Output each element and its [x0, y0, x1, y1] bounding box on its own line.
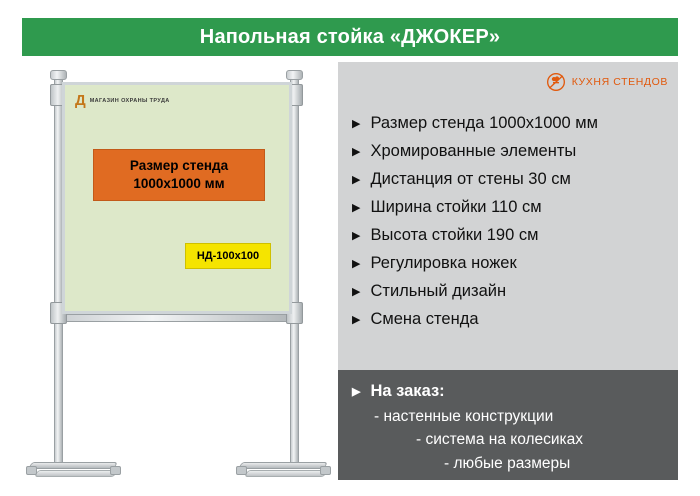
custom-order-title-row: ▶ На заказ: — [352, 382, 664, 401]
feature-label: Размер стенда 1000х1000 мм — [370, 114, 598, 133]
bullet-icon: ▶ — [352, 231, 360, 242]
stand-foot-left-rear — [34, 470, 118, 477]
bullet-icon: ▶ — [352, 119, 360, 130]
feature-label: Регулировка ножек — [370, 254, 516, 273]
stand-cap-right — [286, 70, 303, 80]
feature-item: ▶ Регулировка ножек — [352, 254, 672, 273]
feature-list: ▶ Размер стенда 1000х1000 мм ▶ Хромирова… — [352, 114, 672, 338]
feature-label: Стильный дизайн — [370, 282, 506, 301]
bullet-icon: ▶ — [352, 203, 360, 214]
feature-item: ▶ Хромированные элементы — [352, 142, 672, 161]
stand-board: Д МАГАЗИН ОХРАНЫ ТРУДА Размер стенда 100… — [62, 82, 292, 314]
stand-foot-cap-2 — [110, 466, 121, 475]
feature-item: ▶ Ширина стойки 110 см — [352, 198, 672, 217]
feature-label: Смена стенда — [370, 310, 478, 329]
board-code-label: НД-100х100 — [185, 243, 271, 269]
stand-foot-cap-4 — [320, 466, 331, 475]
poster-page: Напольная стойка «ДЖОКЕР» Д МАГАЗИН ОХРА… — [0, 0, 700, 496]
board-size-label-line1: Размер стенда — [130, 157, 228, 175]
product-illustration: Д МАГАЗИН ОХРАНЫ ТРУДА Размер стенда 100… — [22, 62, 340, 480]
board-size-label-line2: 1000x1000 мм — [133, 175, 224, 193]
bullet-icon: ▶ — [352, 147, 360, 158]
bullet-icon: ▶ — [352, 175, 360, 186]
features-panel: кухня стендов ▶ Размер стенда 1000х1000 … — [338, 62, 678, 480]
stand-crossbar — [54, 314, 299, 322]
stand-foot-right-rear — [244, 470, 328, 477]
stand-foot-left — [28, 462, 118, 469]
bullet-icon: ▶ — [352, 315, 360, 326]
bullet-icon: ▶ — [352, 287, 360, 298]
header-bar: Напольная стойка «ДЖОКЕР» — [22, 18, 678, 56]
board-logo: Д МАГАЗИН ОХРАНЫ ТРУДА — [75, 93, 170, 108]
board-logo-mark: Д — [75, 93, 86, 108]
stand-cap-left — [50, 70, 67, 80]
brand-text: кухня стендов — [572, 76, 668, 88]
brand-logo: кухня стендов — [546, 72, 668, 92]
board-size-label: Размер стенда 1000x1000 мм — [93, 149, 265, 201]
stand-foot-cap-3 — [236, 466, 247, 475]
feature-label: Дистанция от стены 30 см — [370, 170, 570, 189]
feature-item: ▶ Дистанция от стены 30 см — [352, 170, 672, 189]
feature-item: ▶ Высота стойки 190 см — [352, 226, 672, 245]
bullet-icon: ▶ — [352, 387, 360, 398]
board-logo-text: МАГАЗИН ОХРАНЫ ТРУДА — [90, 98, 170, 104]
feature-label: Ширина стойки 110 см — [370, 198, 541, 217]
custom-order-item: - любые размеры — [352, 452, 664, 475]
bullet-icon: ▶ — [352, 259, 360, 270]
custom-order-block: ▶ На заказ: - настенные конструкции - си… — [338, 370, 678, 480]
page-title: Напольная стойка «ДЖОКЕР» — [200, 26, 500, 49]
stand-foot-cap-1 — [26, 466, 37, 475]
feature-item: ▶ Размер стенда 1000х1000 мм — [352, 114, 672, 133]
feature-label: Высота стойки 190 см — [370, 226, 538, 245]
custom-order-title: На заказ: — [370, 382, 444, 401]
chef-hat-icon — [546, 72, 566, 92]
feature-label: Хромированные элементы — [370, 142, 576, 161]
feature-item: ▶ Смена стенда — [352, 310, 672, 329]
custom-order-item: - настенные конструкции — [352, 405, 664, 428]
feature-item: ▶ Стильный дизайн — [352, 282, 672, 301]
stand-foot-right — [238, 462, 328, 469]
custom-order-item: - система на колесиках — [352, 428, 664, 451]
